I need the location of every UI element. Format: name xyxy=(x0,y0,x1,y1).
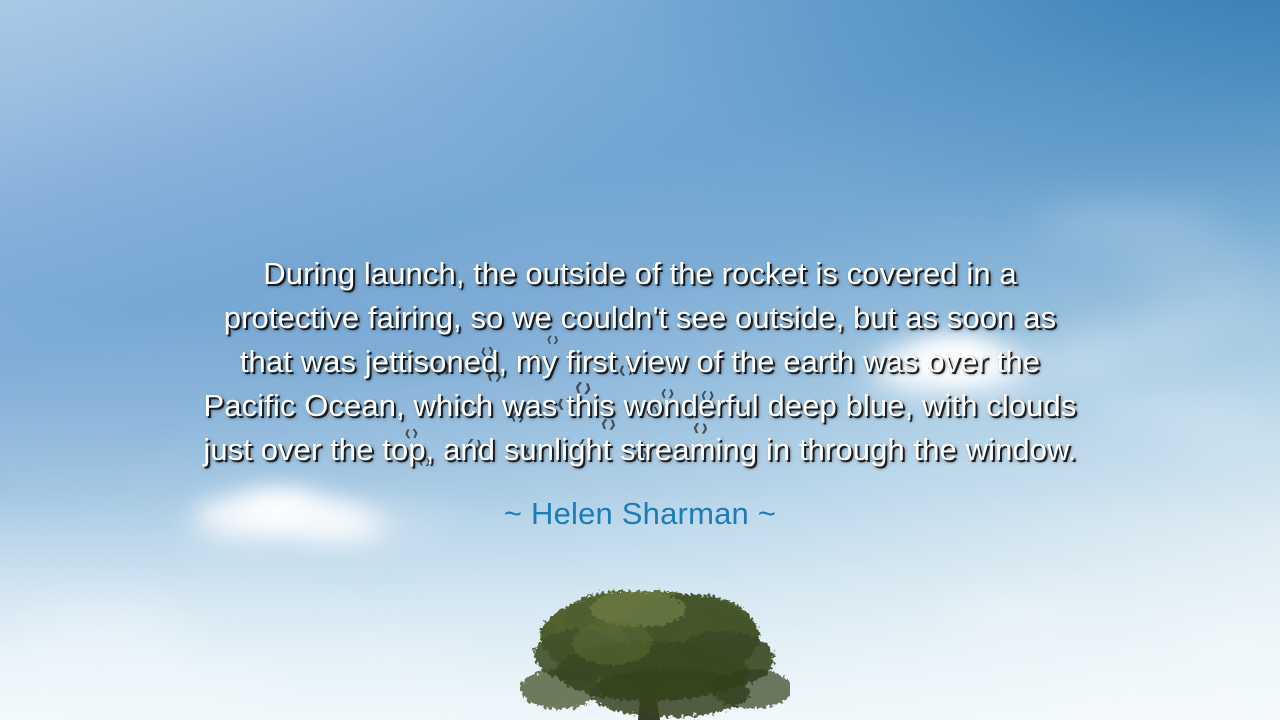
quote-line: protective fairing, so we couldn't see o… xyxy=(120,296,1160,340)
quote-author: ~ Helen Sharman ~ xyxy=(0,494,1280,534)
quote-line: just over the top, and sunlight streamin… xyxy=(120,428,1160,472)
quote-line: Pacific Ocean, which was this wonderful … xyxy=(120,384,1160,428)
quote-block: During launch, the outside of the rocket… xyxy=(0,252,1280,534)
quote-image: ❰❱ ❰❱ ❰❱ ❰❱ ❰❱ ❰❱ ❰❱ ❰❱ ❰❱ ❰❱ ❰❱ ❰❱ ❰❱ ❰… xyxy=(0,0,1280,720)
quote-line: During launch, the outside of the rocket… xyxy=(120,252,1160,296)
quote-line: that was jettisoned, my first view of th… xyxy=(120,340,1160,384)
quote-text: During launch, the outside of the rocket… xyxy=(120,252,1160,472)
